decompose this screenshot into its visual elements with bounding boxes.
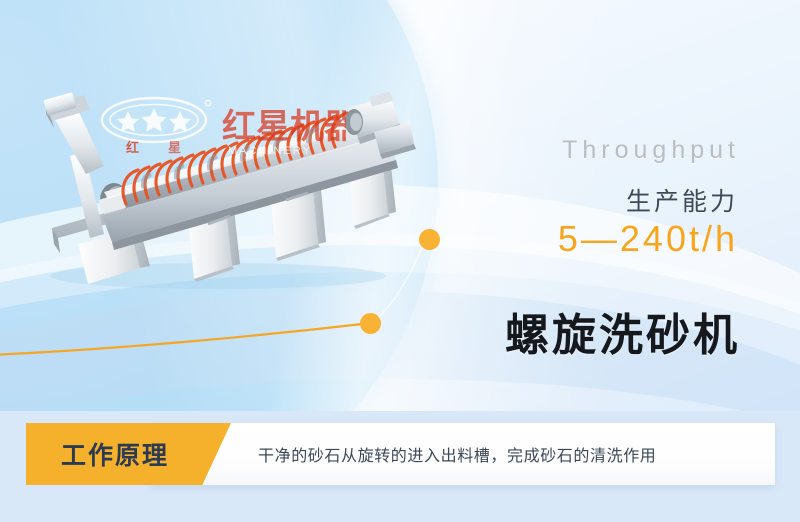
page-title: 螺旋洗砂机 (505, 299, 740, 363)
throughput-label-cn: 生产能力 (626, 182, 738, 218)
footer-band: 工作原理 干净的砂石从旋转的进入出料槽，完成砂石的清洗作用 (0, 411, 800, 522)
spiral-sand-washer-image (18, 48, 438, 298)
throughput-label-en: Throughput (562, 136, 740, 165)
working-principle-label: 工作原理 (26, 423, 204, 485)
product-banner: 红 星 红星机器 MACHINERY Throughput 生产能力 5—240… (0, 0, 800, 522)
throughput-value: 5—240t/h (558, 218, 738, 260)
accent-dot-lower (360, 313, 381, 334)
working-principle-description: 干净的砂石从旋转的进入出料槽，完成砂石的清洗作用 (258, 423, 656, 485)
